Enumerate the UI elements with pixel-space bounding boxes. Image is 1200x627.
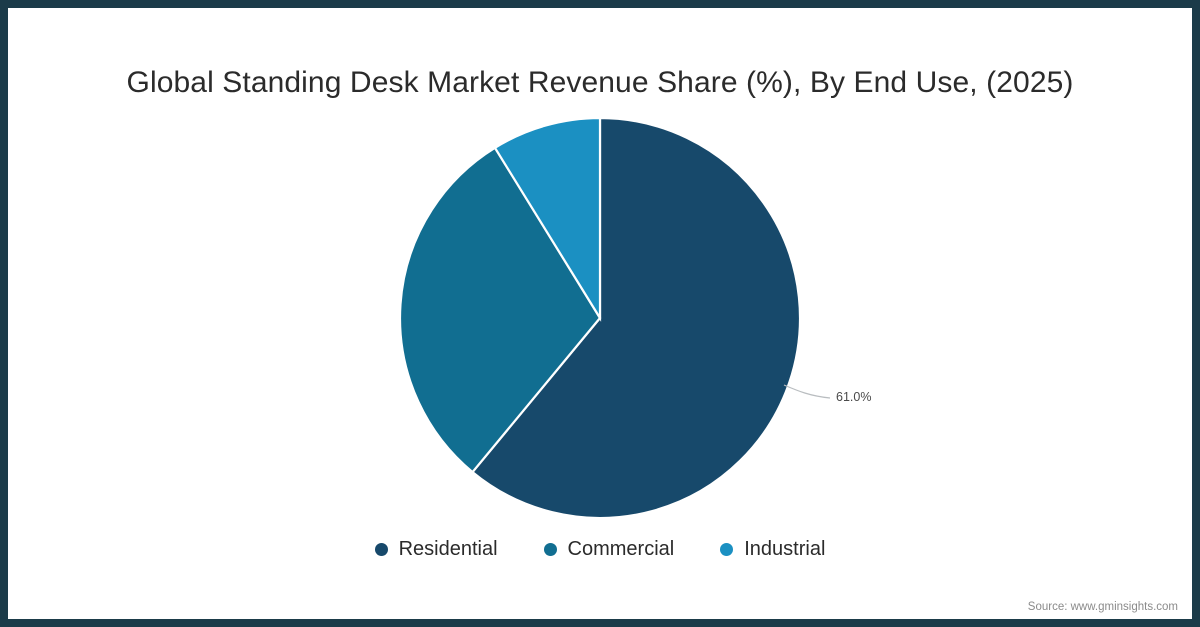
pie-chart-svg [8, 8, 1192, 619]
chart-canvas: Global Standing Desk Market Revenue Shar… [0, 0, 1200, 627]
slice-value-label-residential: 61.0% [836, 390, 871, 404]
legend-label-industrial: Industrial [744, 538, 825, 561]
legend-label-commercial: Commercial [568, 538, 675, 561]
legend-marker-residential-icon [375, 543, 388, 556]
pie-chart: 61.0% [8, 8, 1192, 619]
source-attribution: Source: www.gminsights.com [1028, 601, 1178, 613]
legend-item-commercial[interactable]: Commercial [544, 538, 675, 561]
leader-line-residential [784, 385, 830, 398]
legend-marker-commercial-icon [544, 543, 557, 556]
legend-item-industrial[interactable]: Industrial [720, 538, 825, 561]
legend-label-residential: Residential [399, 538, 498, 561]
chart-plate: Global Standing Desk Market Revenue Shar… [8, 8, 1192, 619]
legend-item-residential[interactable]: Residential [375, 538, 498, 561]
legend-marker-industrial-icon [720, 543, 733, 556]
chart-legend: Residential Commercial Industrial [8, 538, 1192, 561]
